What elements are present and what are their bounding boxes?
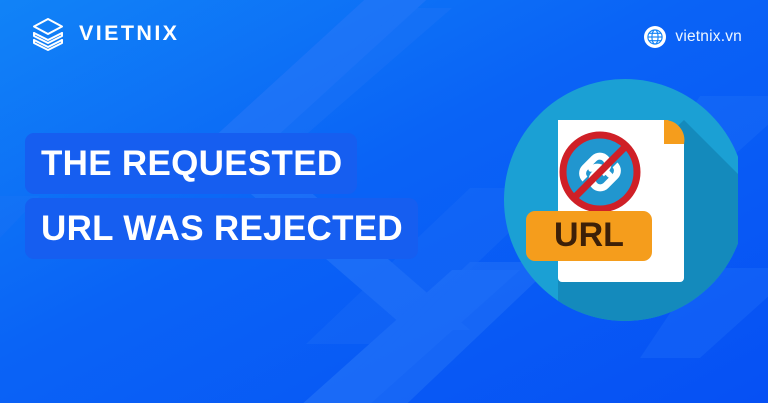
rejected-url-document-illustration: URL	[478, 70, 738, 330]
stacked-layers-icon	[28, 14, 68, 54]
url-badge: URL	[526, 211, 652, 261]
banner-header: VIETNIX vietnix.vn	[0, 0, 768, 72]
brand-name: VIETNIX	[79, 23, 179, 45]
globe-icon	[644, 26, 666, 48]
brand-logo[interactable]: VIETNIX	[28, 14, 179, 54]
site-reference-label: vietnix.vn	[675, 29, 742, 45]
url-badge-label: URL	[554, 216, 624, 254]
headline-line-1: THE REQUESTED	[25, 133, 357, 194]
page-title: THE REQUESTED URL WAS REJECTED	[25, 133, 418, 259]
site-reference[interactable]: vietnix.vn	[644, 26, 742, 48]
prohibition-icon	[563, 135, 637, 209]
error-banner: VIETNIX vietnix.vn THE REQUESTED URL WAS…	[0, 0, 768, 403]
headline-line-2: URL WAS REJECTED	[25, 198, 418, 259]
